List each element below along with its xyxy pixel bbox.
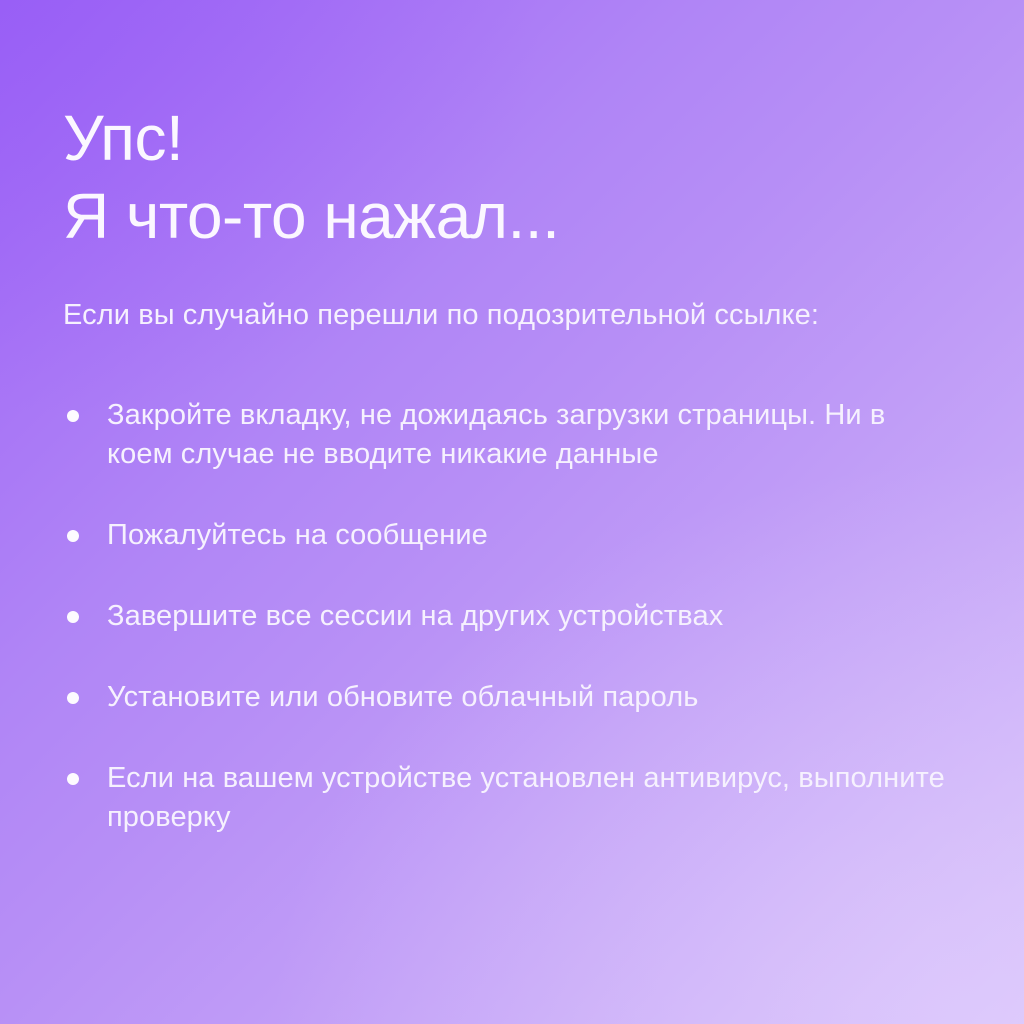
- list-item-label: Закройте вкладку, не дожидаясь загрузки …: [107, 396, 958, 474]
- subtitle-text: Если вы случайно перешли по подозрительн…: [63, 295, 873, 335]
- advice-list: Закройте вкладку, не дожидаясь загрузки …: [63, 396, 958, 837]
- bullet-dot-icon: [67, 530, 79, 542]
- list-item: Пожалуйтесь на сообщение: [63, 516, 958, 555]
- bullet-dot-icon: [67, 611, 79, 623]
- list-item: Установите или обновите облачный пароль: [63, 678, 958, 717]
- bullet-dot-icon: [67, 773, 79, 785]
- slide-canvas: Упс! Я что-то нажал... Если вы случайно …: [0, 0, 1024, 1024]
- page-title-line-1: Упс!: [63, 99, 963, 177]
- list-item-label: Установите или обновите облачный пароль: [107, 678, 958, 717]
- list-item-label: Пожалуйтесь на сообщение: [107, 516, 958, 555]
- list-item: Если на вашем устройстве установлен анти…: [63, 759, 958, 837]
- list-item: Завершите все сессии на других устройств…: [63, 597, 958, 636]
- page-title: Упс! Я что-то нажал...: [63, 99, 963, 255]
- list-item-label: Если на вашем устройстве установлен анти…: [107, 759, 958, 837]
- bullet-dot-icon: [67, 410, 79, 422]
- list-item: Закройте вкладку, не дожидаясь загрузки …: [63, 396, 958, 474]
- page-title-line-2: Я что-то нажал...: [63, 177, 963, 255]
- list-item-label: Завершите все сессии на других устройств…: [107, 597, 958, 636]
- bullet-dot-icon: [67, 692, 79, 704]
